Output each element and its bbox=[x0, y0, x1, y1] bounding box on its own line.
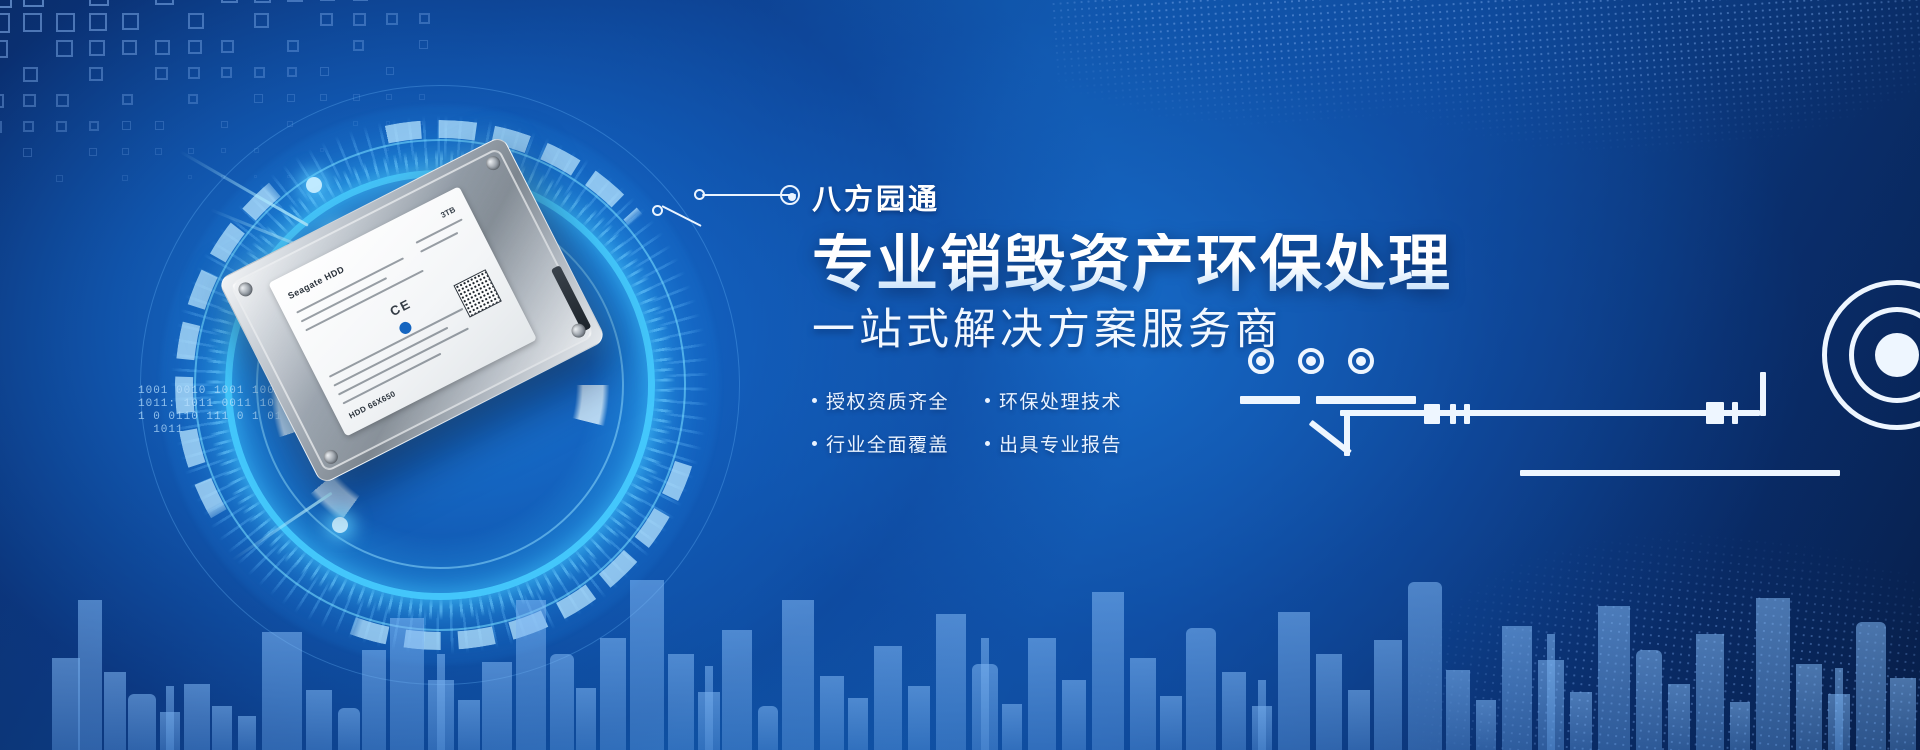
list-item-label: 出具专业报告 bbox=[999, 430, 1122, 457]
bullet-dot-icon bbox=[985, 398, 990, 403]
list-item: 行业全面覆盖 bbox=[812, 430, 949, 457]
hdd-label-capacity: 3TB bbox=[439, 205, 457, 220]
hdd-label-brand: Seagate HDD bbox=[286, 264, 346, 301]
bullet-dot-icon bbox=[812, 441, 817, 446]
feature-list: 授权资质齐全 环保处理技术 行业全面覆盖 出具专业报告 bbox=[812, 387, 1122, 457]
city-skyline-silhouette bbox=[0, 540, 1920, 750]
list-item: 出具专业报告 bbox=[985, 430, 1122, 457]
banner-copy: 八方园通 专业销毁资产环保处理 一站式解决方案服务商 授权资质齐全 环保处理技术… bbox=[812, 186, 1572, 457]
bullet-dot-icon bbox=[985, 441, 990, 446]
circuit-disc-icon bbox=[1822, 280, 1920, 430]
list-item: 环保处理技术 bbox=[985, 387, 1122, 414]
brand-name: 八方园通 bbox=[812, 186, 1572, 215]
connector-line bbox=[660, 175, 800, 225]
connector-small-node bbox=[652, 205, 663, 216]
hdd-label-ce-mark: CE bbox=[387, 296, 413, 319]
list-item: 授权资质齐全 bbox=[812, 387, 949, 414]
binary-text: 1001 0010 1001 1001 1011: 1011 0011 10 1… bbox=[138, 385, 282, 437]
headline: 专业销毁资产环保处理 bbox=[812, 233, 1572, 296]
list-item-label: 环保处理技术 bbox=[999, 387, 1122, 414]
promo-banner: 1001 0010 1001 1001 1011: 1011 0011 10 1… bbox=[0, 0, 1920, 750]
list-item-label: 行业全面覆盖 bbox=[826, 430, 949, 457]
glow-node bbox=[332, 517, 348, 533]
list-item-label: 授权资质齐全 bbox=[826, 387, 949, 414]
glow-node bbox=[306, 177, 322, 193]
subheadline: 一站式解决方案服务商 bbox=[812, 308, 1572, 353]
connector-small-node bbox=[694, 189, 705, 200]
bullet-dot-icon bbox=[812, 398, 817, 403]
